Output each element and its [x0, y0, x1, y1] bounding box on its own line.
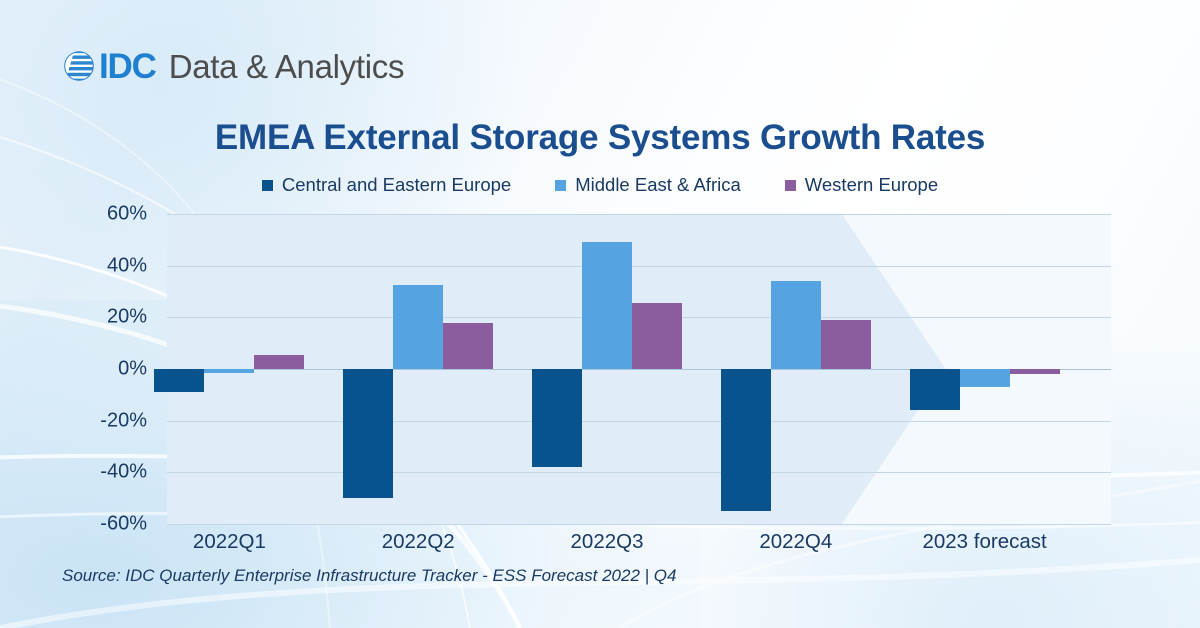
- logo-data-analytics-text: Data & Analytics: [169, 50, 404, 83]
- y-tick-label: -60%: [57, 513, 147, 536]
- bar[interactable]: [771, 281, 821, 369]
- legend-item-we[interactable]: Western Europe: [785, 174, 938, 196]
- y-tick-label: 20%: [57, 306, 147, 329]
- chart-legend: Central and Eastern Europe Middle East &…: [0, 174, 1200, 196]
- gridline--20: [167, 421, 1111, 422]
- gridline-60: [167, 214, 1111, 215]
- x-tick-label: 2023 forecast: [922, 530, 1046, 554]
- y-tick-label: -40%: [57, 461, 147, 484]
- bar[interactable]: [821, 320, 871, 369]
- bar[interactable]: [1010, 369, 1060, 374]
- plot-area: [167, 214, 1111, 524]
- bar[interactable]: [154, 369, 204, 392]
- legend-swatch-cee: [262, 180, 273, 191]
- bar[interactable]: [721, 369, 771, 511]
- bar[interactable]: [582, 242, 632, 369]
- bar[interactable]: [910, 369, 960, 410]
- idc-logo: IDC Data & Analytics: [62, 44, 404, 88]
- x-tick-label: 2022Q4: [759, 530, 832, 554]
- x-tick-label: 2022Q1: [193, 530, 266, 554]
- bar[interactable]: [254, 355, 304, 369]
- x-tick-label: 2022Q3: [571, 530, 644, 554]
- gridline--40: [167, 472, 1111, 473]
- legend-item-mea[interactable]: Middle East & Africa: [555, 174, 741, 196]
- y-tick-label: 60%: [57, 203, 147, 226]
- bar[interactable]: [532, 369, 582, 467]
- y-tick-label: 40%: [57, 254, 147, 277]
- bar[interactable]: [343, 369, 393, 498]
- gridline-40: [167, 266, 1111, 267]
- logo-idc-text: IDC: [99, 49, 156, 84]
- bar[interactable]: [393, 285, 443, 369]
- legend-swatch-we: [785, 180, 796, 191]
- chart-canvas: IDC Data & Analytics EMEA External Stora…: [0, 0, 1200, 628]
- source-note: Source: IDC Quarterly Enterprise Infrast…: [62, 566, 676, 586]
- bar[interactable]: [443, 323, 493, 370]
- legend-label-cee: Central and Eastern Europe: [282, 174, 511, 196]
- x-tick-label: 2022Q2: [382, 530, 455, 554]
- y-tick-label: 0%: [57, 358, 147, 381]
- bar[interactable]: [204, 369, 254, 373]
- legend-label-mea: Middle East & Africa: [575, 174, 741, 196]
- gridline--60: [167, 524, 1111, 525]
- legend-label-we: Western Europe: [805, 174, 938, 196]
- bar[interactable]: [960, 369, 1010, 387]
- legend-swatch-mea: [555, 180, 566, 191]
- idc-globe-icon: [62, 49, 96, 83]
- legend-item-cee[interactable]: Central and Eastern Europe: [262, 174, 511, 196]
- bar[interactable]: [632, 303, 682, 369]
- chart-title: EMEA External Storage Systems Growth Rat…: [0, 118, 1200, 158]
- y-tick-label: -20%: [57, 409, 147, 432]
